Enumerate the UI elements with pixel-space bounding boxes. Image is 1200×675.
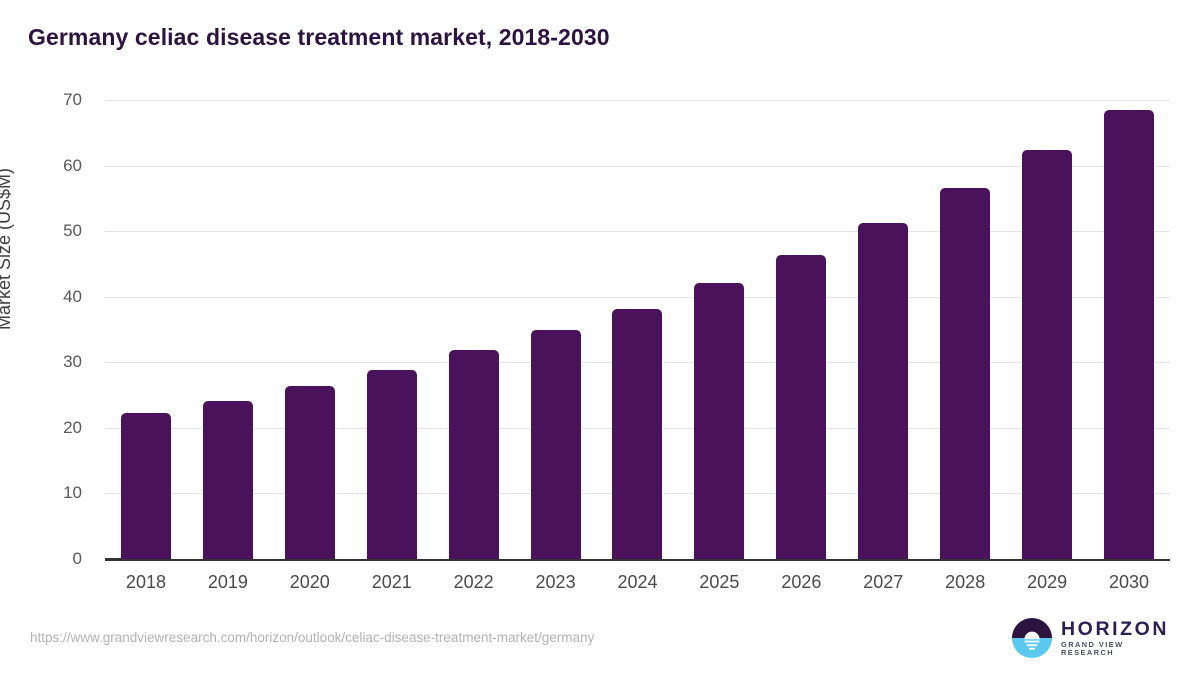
x-tick-label: 2019: [208, 572, 248, 593]
bar-slot: [597, 100, 679, 559]
horizon-logo[interactable]: HORIZON GRAND VIEW RESEARCH: [1012, 616, 1162, 660]
y-tick-label: 0: [22, 549, 82, 569]
bar-2019[interactable]: [203, 401, 253, 559]
bar-2026[interactable]: [776, 255, 826, 559]
logo-wordmark: HORIZON: [1061, 619, 1169, 639]
x-tick-label: 2029: [1027, 572, 1067, 593]
y-tick-label: 60: [22, 156, 82, 176]
bar-2030[interactable]: [1104, 110, 1154, 559]
bar-slot: [1088, 100, 1170, 559]
bar-2024[interactable]: [612, 309, 662, 559]
source-url[interactable]: https://www.grandviewresearch.com/horizo…: [30, 630, 594, 645]
x-tick-label: 2021: [372, 572, 412, 593]
bar-2018[interactable]: [121, 413, 171, 559]
bar-slot: [515, 100, 597, 559]
x-tick-label: 2024: [617, 572, 657, 593]
y-tick-label: 70: [22, 90, 82, 110]
y-axis-label: Market Size (US$M): [0, 168, 15, 330]
bar-slot: [433, 100, 515, 559]
y-tick-label: 10: [22, 483, 82, 503]
bar-slot: [678, 100, 760, 559]
x-tick-label: 2030: [1109, 572, 1149, 593]
bar-slot: [105, 100, 187, 559]
y-tick-label: 30: [22, 352, 82, 372]
x-axis-line: [105, 559, 1170, 561]
x-tick-label: 2025: [699, 572, 739, 593]
logo-text: HORIZON GRAND VIEW RESEARCH: [1061, 619, 1169, 658]
bar-series: [105, 100, 1170, 559]
bar-2028[interactable]: [940, 188, 990, 559]
x-tick-label: 2023: [536, 572, 576, 593]
x-tick-label: 2020: [290, 572, 330, 593]
bar-slot: [187, 100, 269, 559]
bar-2020[interactable]: [285, 386, 335, 559]
page-title: Germany celiac disease treatment market,…: [28, 24, 610, 51]
bar-2022[interactable]: [449, 350, 499, 559]
x-tick-label: 2028: [945, 572, 985, 593]
x-tick-label: 2018: [126, 572, 166, 593]
y-tick-label: 40: [22, 287, 82, 307]
bar-slot: [760, 100, 842, 559]
bar-slot: [269, 100, 351, 559]
bar-slot: [924, 100, 1006, 559]
bar-2025[interactable]: [694, 283, 744, 559]
bar-2021[interactable]: [367, 370, 417, 559]
bar-2027[interactable]: [858, 223, 908, 559]
bar-2023[interactable]: [531, 330, 581, 559]
y-tick-label: 20: [22, 418, 82, 438]
bar-slot: [1006, 100, 1088, 559]
x-tick-label: 2027: [863, 572, 903, 593]
logo-tagline: GRAND VIEW RESEARCH: [1061, 641, 1169, 657]
y-tick-label: 50: [22, 221, 82, 241]
horizon-sun-icon: [1012, 618, 1052, 658]
bar-slot: [351, 100, 433, 559]
bar-slot: [842, 100, 924, 559]
x-tick-label: 2022: [454, 572, 494, 593]
x-tick-label: 2026: [781, 572, 821, 593]
bar-2029[interactable]: [1022, 150, 1072, 559]
chart-page: Germany celiac disease treatment market,…: [0, 0, 1200, 675]
